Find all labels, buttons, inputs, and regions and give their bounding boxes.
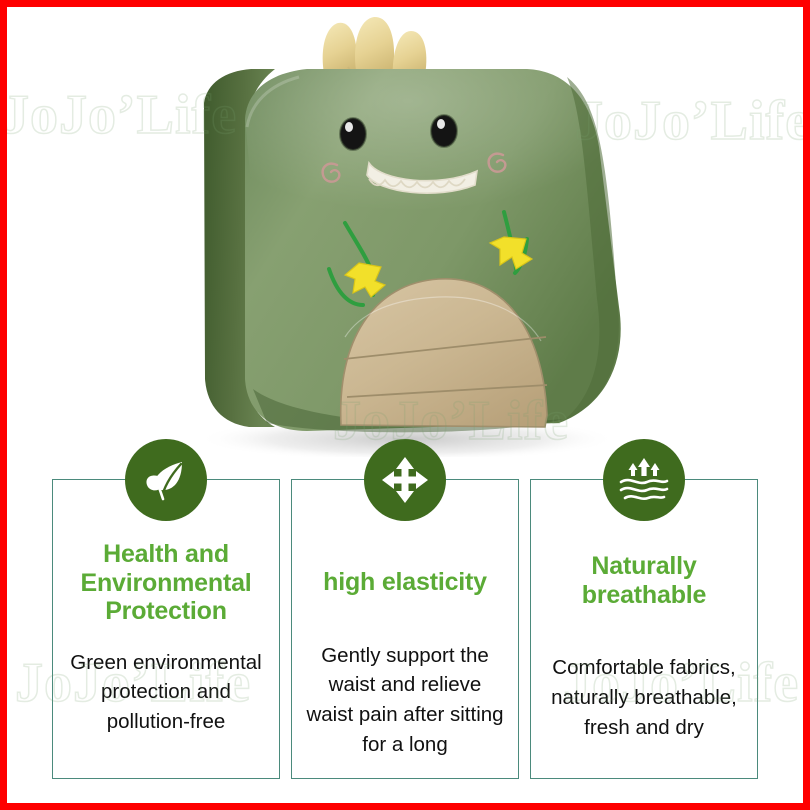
feature-card-health: Health and Environmental Protection Gree…: [52, 479, 280, 779]
product-photo: [7, 7, 803, 457]
breathable-waves-icon: [603, 439, 685, 521]
four-way-arrow-icon: [364, 439, 446, 521]
leaf-icon: [125, 439, 207, 521]
card-body: Gently support the waist and relieve wai…: [298, 641, 512, 761]
card-body: Comfortable fabrics, naturally breathabl…: [537, 653, 751, 743]
card-body: Green environmental protection and pollu…: [59, 648, 273, 738]
card-title: high elasticity: [298, 568, 512, 597]
card-title: Health and Environmental Protection: [59, 540, 273, 626]
product-marketing-image: JoJo’Life JoJo’Life JoJo’Life JoJo’Life …: [0, 0, 810, 810]
card-title: Naturally breathable: [537, 552, 751, 609]
feature-card-elasticity: high elasticity Gently support the waist…: [291, 479, 519, 779]
feature-card-breathable: Naturally breathable Comfortable fabrics…: [530, 479, 758, 779]
feature-cards: Health and Environmental Protection Gree…: [7, 472, 803, 803]
